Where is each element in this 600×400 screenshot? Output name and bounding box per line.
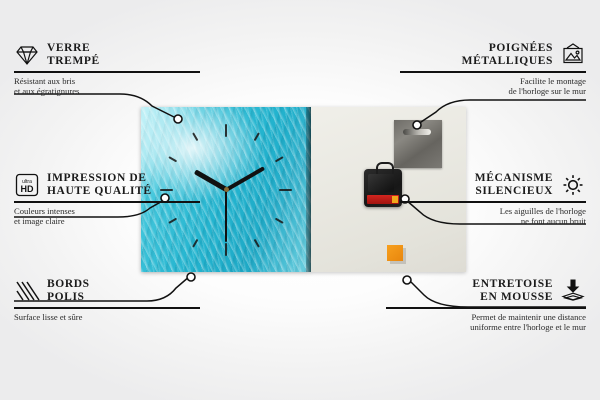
feature-title: BORDSPOLIS [47,278,90,304]
mechanism-hanger-loop [376,162,394,174]
foam-spacer [387,245,403,261]
feature-callout-bords-polis: BORDSPOLIS Surface lisse et sûre [14,278,200,322]
metal-hanger-plate [394,120,442,168]
wall-frame-icon [560,43,586,67]
feature-heading: BORDSPOLIS [14,278,200,304]
divider [14,307,200,309]
clock-mechanism [364,169,402,207]
feature-title: MÉCANISMESILENCIEUX [475,172,553,198]
feature-callout-impression-haute-qualite: ultra HD IMPRESSION DEHAUTE QUALITÉ Coul… [14,172,200,226]
svg-text:HD: HD [21,184,34,194]
feature-title: ENTRETOISEEN MOUSSE [472,278,553,304]
feature-description: Couleurs intenseset image claire [14,206,200,227]
feature-heading: MÉCANISMESILENCIEUX [400,172,586,198]
divider [14,201,200,203]
spacer-arrow-icon [560,279,586,303]
feature-callout-entretoise-en-mousse: ENTRETOISEEN MOUSSE Permet de maintenir … [386,278,586,332]
feature-description: Facilite le montagede l'horloge sur le m… [400,76,586,97]
diamond-icon [14,43,40,67]
feature-title: IMPRESSION DEHAUTE QUALITÉ [47,172,152,198]
feature-heading: ENTRETOISEEN MOUSSE [386,278,586,304]
gear-icon [560,173,586,197]
feature-description: Permet de maintenir une distanceuniforme… [386,312,586,333]
feature-heading: POIGNÉESMÉTALLIQUES [400,42,586,68]
feature-title: VERRETREMPÉ [47,42,100,68]
mechanism-body-shade [368,174,394,192]
feature-heading: ultra HD IMPRESSION DEHAUTE QUALITÉ [14,172,200,198]
infographic-canvas: VERRETREMPÉ Résistant aux briset aux égr… [0,0,600,400]
feature-callout-mecanisme-silencieux: MÉCANISMESILENCIEUX Les aiguilles de l'h… [400,172,586,226]
divider [14,71,200,73]
clock-hub [224,187,229,192]
ultra-hd-icon: ultra HD [14,173,40,197]
feature-description: Résistant aux briset aux égratignures [14,76,200,97]
feature-description: Les aiguilles de l'horlogene font aucun … [400,206,586,227]
divider [400,201,586,203]
hanger-slot [403,129,431,135]
divider [386,307,586,309]
feature-callout-poignees-metalliques: POIGNÉESMÉTALLIQUES Facilite le montaged… [400,42,586,96]
battery-terminal [392,196,398,203]
feature-heading: VERRETREMPÉ [14,42,200,68]
battery [367,195,399,204]
feature-description: Surface lisse et sûre [14,312,200,322]
polished-edges-icon [14,279,40,303]
feature-callout-verre-trempe: VERRETREMPÉ Résistant aux briset aux égr… [14,42,200,96]
feature-title: POIGNÉESMÉTALLIQUES [462,42,553,68]
divider [400,71,586,73]
